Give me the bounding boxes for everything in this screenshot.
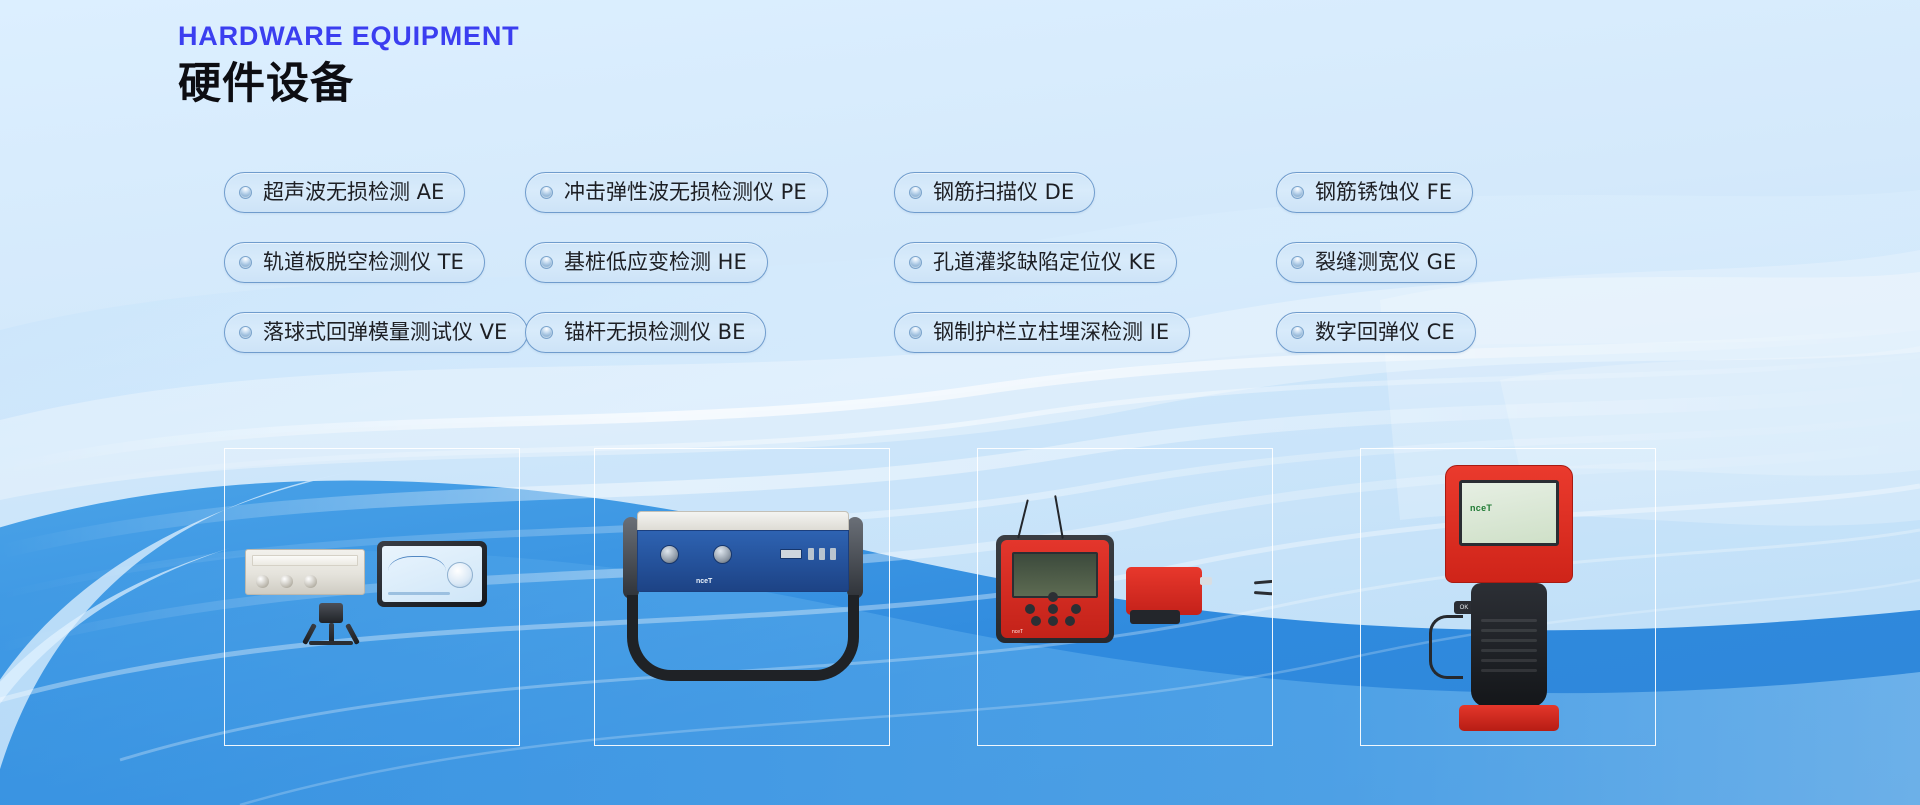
blue-panel-instrument-device: nceT [623,511,863,691]
equipment-pill-ke[interactable]: 孔道灌浆缺陷定位仪 KE [894,242,1177,283]
circle-bullet-icon [909,186,922,199]
equipment-label: 轨道板脱空检测仪 TE [263,252,464,273]
circle-bullet-icon [239,186,252,199]
circle-bullet-icon [540,256,553,269]
panel-buttons [808,548,836,560]
cable-plug [1200,577,1212,585]
eyebrow-title: HARDWARE EQUIPMENT [178,20,519,52]
product-photo-3: nceT [978,449,1272,745]
usb-port [780,549,802,559]
handheld-body: nceT [1001,540,1109,638]
equipment-row: 落球式回弹模量测试仪 VE 锚杆无损检测仪 BE 钢制护栏立柱埋深检测 IE 数… [224,312,1704,353]
red-handheld-device: nceT [996,535,1114,643]
product-card-blue-panel-instrument[interactable]: nceT [594,448,890,746]
red-sensor-module [1126,567,1202,615]
equipment-label: 落球式回弹模量测试仪 VE [263,322,507,343]
equipment-label: 超声波无损检测 AE [263,182,444,203]
equipment-pill-ae[interactable]: 超声波无损检测 AE [224,172,465,213]
tester-base-cap [1459,705,1559,731]
circle-bullet-icon [909,326,922,339]
device-caption-text [1012,543,1013,548]
equipment-pill-be[interactable]: 锚杆无损检测仪 BE [525,312,766,353]
equipment-pill-fe[interactable]: 钢筋锈蚀仪 FE [1276,172,1473,213]
equipment-label: 冲击弹性波无损检测仪 PE [564,182,807,203]
equipment-pill-ie[interactable]: 钢制护栏立柱埋深检测 IE [894,312,1190,353]
equipment-label: 孔道灌浆缺陷定位仪 KE [933,252,1156,273]
circle-bullet-icon [1291,326,1304,339]
product-gallery: nceT [0,448,1920,758]
circle-bullet-icon [909,256,922,269]
brand-logo-text: nceT [696,578,712,585]
page-title: 硬件设备 [178,58,519,112]
circle-bullet-icon [1291,186,1304,199]
brand-logo-text: nceT [1470,503,1492,513]
equipment-list: 超声波无损检测 AE 冲击弹性波无损检测仪 PE 钢筋扫描仪 DE 钢筋锈蚀仪 … [224,172,1704,353]
tester-head-shell: nceT [1445,465,1573,583]
probe-cable [1017,499,1029,538]
rebound-tester-device: nceT OK [1445,465,1573,731]
equipment-label: 裂缝测宽仪 GE [1315,252,1456,273]
equipment-pill-de[interactable]: 钢筋扫描仪 DE [894,172,1095,213]
page-content: HARDWARE EQUIPMENT 硬件设备 超声波无损检测 AE 冲击弹性波… [0,0,1920,805]
circle-bullet-icon [540,186,553,199]
product-photo-2: nceT [595,449,889,745]
sensor-brand-text [1133,584,1134,590]
probe-cable [1054,495,1064,539]
equipment-pill-ve[interactable]: 落球式回弹模量测试仪 VE [224,312,528,353]
bench-brand-text [253,569,254,574]
circle-bullet-icon [1291,256,1304,269]
equipment-row: 轨道板脱空检测仪 TE 基桩低应变检测 HE 孔道灌浆缺陷定位仪 KE 裂缝测宽… [224,242,1704,283]
grip-ridges [1481,619,1537,679]
waveform-graphic [388,556,446,586]
page-stage: HARDWARE EQUIPMENT 硬件设备 超声波无损检测 AE 冲击弹性波… [0,0,1920,805]
product-card-rebound-tester[interactable]: nceT OK [1360,448,1656,746]
tripod-mount [305,601,357,645]
tablet-device [377,541,487,607]
sensor-base [1130,610,1180,624]
equipment-pill-he[interactable]: 基桩低应变检测 HE [525,242,768,283]
keypad [1025,592,1081,626]
wrist-strap [1429,615,1463,679]
product-photo-1 [225,449,519,745]
carry-handle [627,595,859,681]
bench-display-strip [252,555,358,566]
page-heading: HARDWARE EQUIPMENT 硬件设备 [178,20,519,112]
bench-unit-device [245,549,365,595]
equipment-pill-pe[interactable]: 冲击弹性波无损检测仪 PE [525,172,828,213]
equipment-row: 超声波无损检测 AE 冲击弹性波无损检测仪 PE 钢筋扫描仪 DE 钢筋锈蚀仪 … [224,172,1704,213]
connector-ports [660,545,732,564]
instrument-top-shell [637,511,849,531]
equipment-pill-ge[interactable]: 裂缝测宽仪 GE [1276,242,1477,283]
bench-knobs [256,575,317,588]
product-card-red-handheld-with-sensor[interactable]: nceT [977,448,1273,746]
instrument-side-rail-right [847,517,863,599]
tester-grip [1471,583,1547,707]
instrument-front-panel: nceT [637,530,849,592]
equipment-label: 基桩低应变检测 HE [564,252,747,273]
circle-bullet-icon [239,256,252,269]
equipment-pill-te[interactable]: 轨道板脱空检测仪 TE [224,242,485,283]
product-photo-4: nceT OK [1361,449,1655,745]
equipment-label: 锚杆无损检测仪 BE [564,322,745,343]
screen-bar [388,592,450,595]
tripod-foot [309,641,353,645]
tester-lcd-screen: nceT [1459,480,1559,546]
circle-bullet-icon [540,326,553,339]
product-card-ultrasonic-bench-and-tablet[interactable] [224,448,520,746]
tablet-screen [382,546,482,602]
tripod-head [319,603,343,623]
equipment-label: 钢制护栏立柱埋深检测 IE [933,322,1169,343]
equipment-label: 钢筋扫描仪 DE [933,182,1074,203]
equipment-label: 钢筋锈蚀仪 FE [1315,182,1452,203]
brand-logo-text: nceT [1012,629,1023,635]
circle-bullet-icon [239,326,252,339]
equipment-label: 数字回弹仪 CE [1315,322,1455,343]
equipment-pill-ce[interactable]: 数字回弹仪 CE [1276,312,1476,353]
dial-graphic [447,562,473,588]
